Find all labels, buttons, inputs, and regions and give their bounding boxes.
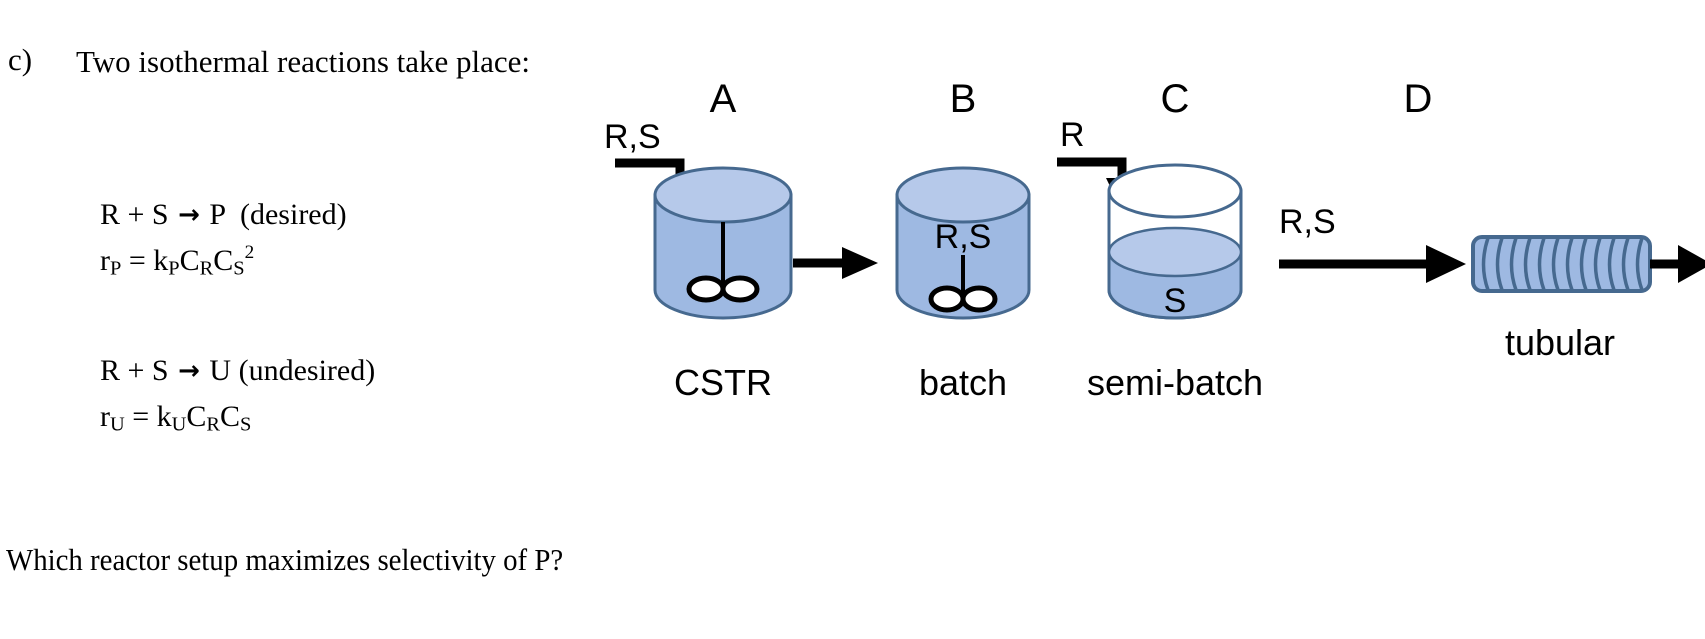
rate-k-sub: U xyxy=(172,413,187,435)
reaction-undesired: R + S → U (undesired) rU = kUCRCS xyxy=(100,348,375,440)
reactor-b-impeller-blade-left xyxy=(931,288,963,310)
reactor-b-inner-label: R,S xyxy=(935,218,992,256)
reaction-desired-qualifier: (desired) xyxy=(240,198,347,231)
reaction-undesired-lhs: R + S xyxy=(100,354,169,387)
rate-symbol: r xyxy=(100,400,110,433)
rate-c1-sub: R xyxy=(200,257,214,279)
reactor-b-vessel-top xyxy=(897,168,1029,222)
rate-c2-sub: S xyxy=(240,413,251,435)
reactor-b-batch: B R,S batch xyxy=(897,77,1029,403)
rate-c2-sub: S xyxy=(233,257,244,279)
reactor-d-outlet-arrow-icon xyxy=(1678,245,1705,283)
question-marker: c) xyxy=(8,40,32,80)
reactor-a-cstr: A R,S CSTR xyxy=(604,77,878,403)
rate-k-sub: P xyxy=(168,257,179,279)
reactor-c-vessel-top-rim xyxy=(1109,165,1241,217)
rate-c1: C xyxy=(180,244,200,277)
rate-symbol-sub: P xyxy=(110,257,121,279)
question-intro: Two isothermal reactions take place: xyxy=(76,40,536,84)
rate-c1: C xyxy=(186,400,206,433)
reactor-a-impeller-blade-left xyxy=(689,278,723,300)
reactor-a-vessel-top xyxy=(655,168,791,222)
reactor-a-name: CSTR xyxy=(674,362,772,403)
reactor-b-impeller-blade-right xyxy=(963,288,995,310)
rate-symbol-sub: U xyxy=(110,413,125,435)
reaction-desired-rhs: P xyxy=(209,198,225,231)
reaction-desired-lhs: R + S xyxy=(100,198,169,231)
reactor-c-liquid-surface xyxy=(1109,228,1241,276)
reactor-a-outlet-arrow-icon xyxy=(842,247,878,279)
reactor-a-impeller-blade-right xyxy=(723,278,757,300)
rate-c2: C xyxy=(213,244,233,277)
rate-c1-sub: R xyxy=(206,413,220,435)
rate-law-undesired: rU = kUCRCS xyxy=(100,394,375,440)
reactor-c-name: semi-batch xyxy=(1087,362,1263,403)
reactor-d-inlet-label: R,S xyxy=(1279,203,1336,241)
final-question: Which reactor setup maximizes selectivit… xyxy=(6,540,563,580)
rate-equals-k: = k xyxy=(132,400,171,433)
reactor-a-inlet-label: R,S xyxy=(604,118,661,156)
reaction-undesired-qualifier: (undesired) xyxy=(239,354,376,387)
rate-law-desired: rP = kPCRCS2 xyxy=(100,238,347,284)
reactor-d-name: tubular xyxy=(1505,322,1615,363)
rate-symbol: r xyxy=(100,244,110,277)
reactor-c-inner-label: S xyxy=(1164,282,1187,320)
reaction-desired: R + S → P (desired) rP = kPCRCS2 xyxy=(100,192,347,284)
reactor-b-letter: B xyxy=(950,77,977,121)
reactor-d-inlet-arrow-icon xyxy=(1426,245,1466,283)
question-panel: c) Two isothermal reactions take place: … xyxy=(0,0,600,639)
reaction-undesired-rhs: U xyxy=(209,354,231,387)
reaction-arrow-icon: → xyxy=(176,200,202,230)
reaction-undesired-equation: R + S → U (undesired) xyxy=(100,348,375,394)
reactor-c-semi-batch: C R S semi-batch xyxy=(1057,77,1263,403)
reactor-d-tubular: D R,S tubular xyxy=(1279,77,1705,363)
rate-equals-k: = k xyxy=(129,244,168,277)
reactor-c-letter: C xyxy=(1161,77,1190,121)
rate-c2: C xyxy=(220,400,240,433)
reactor-d-letter: D xyxy=(1404,77,1433,121)
reactor-c-inlet-label: R xyxy=(1060,116,1085,154)
reactor-b-name: batch xyxy=(919,362,1007,403)
rate-c2-exponent: 2 xyxy=(245,242,255,263)
reaction-arrow-icon: → xyxy=(176,356,202,386)
reactor-diagram: A R,S CSTR B R,S batch C R xyxy=(560,0,1705,480)
reaction-desired-equation: R + S → P (desired) xyxy=(100,192,347,238)
reactor-a-letter: A xyxy=(710,77,737,121)
